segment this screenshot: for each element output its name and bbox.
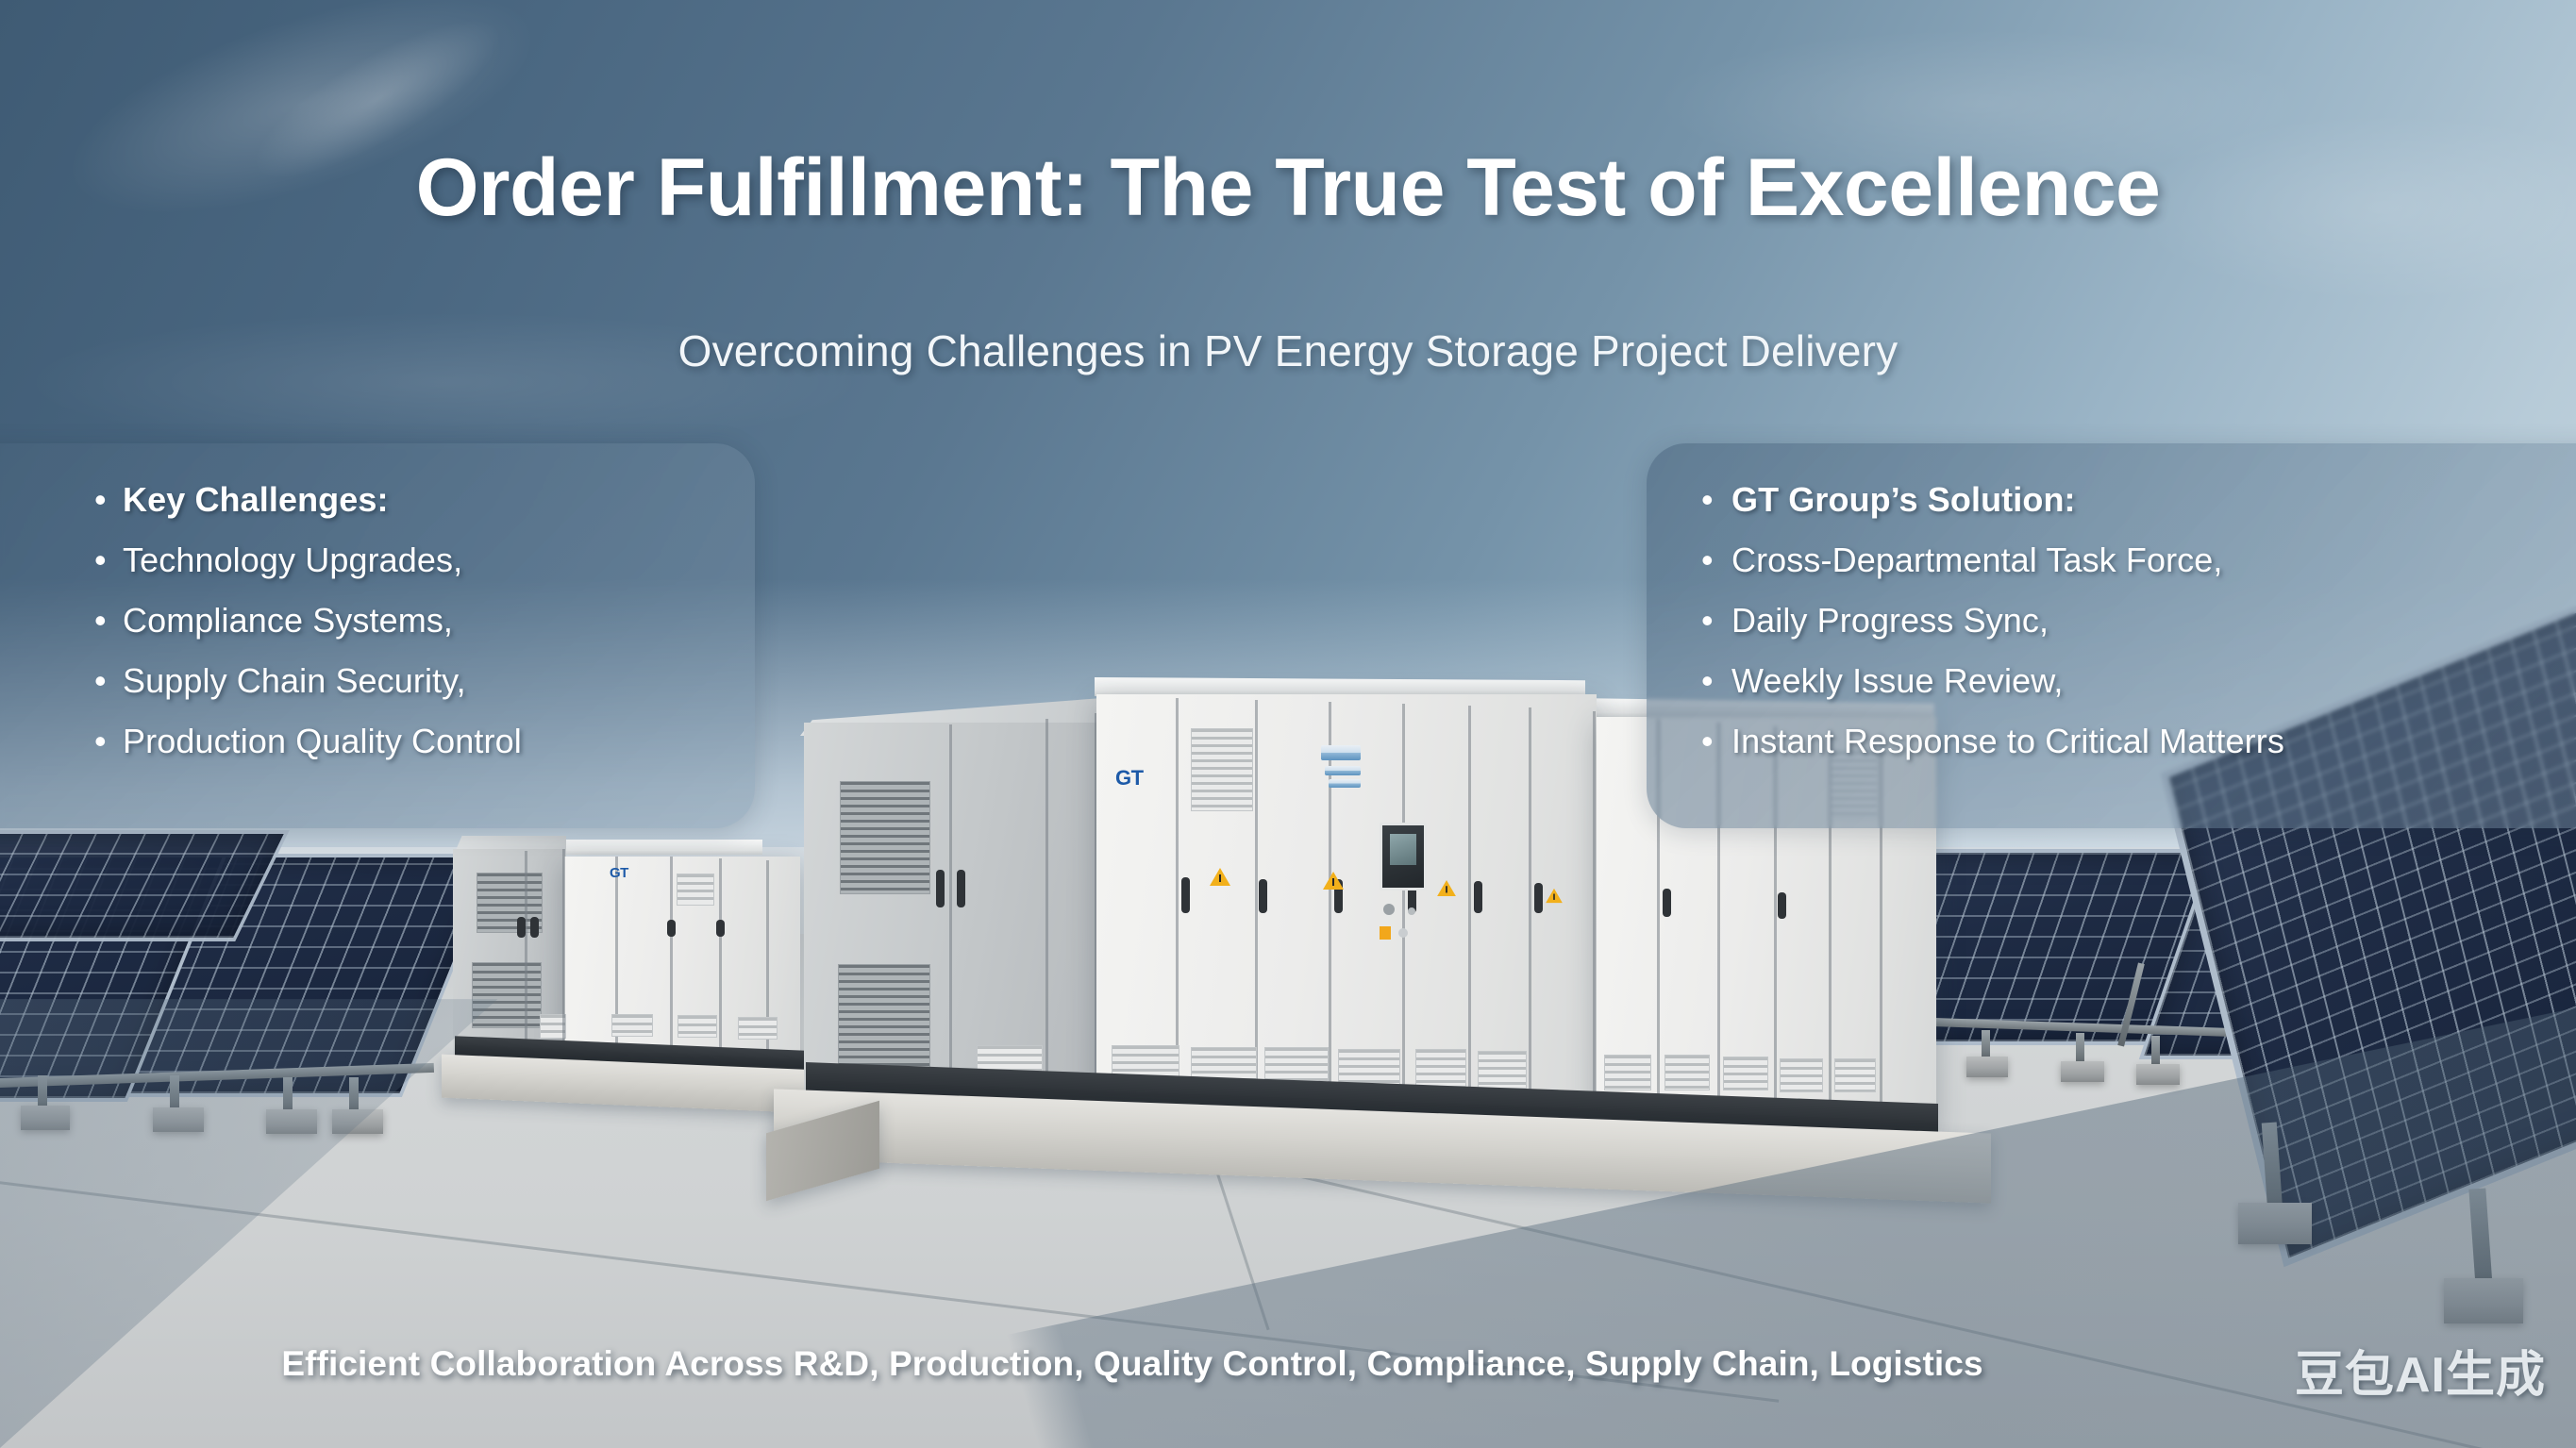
list-item: Compliance Systems,	[123, 604, 522, 638]
control-knob[interactable]	[1408, 907, 1415, 915]
bullet-markers: • • • • •	[94, 483, 107, 758]
warning-triangle-icon	[1210, 868, 1230, 886]
list-item: Weekly Issue Review,	[1731, 664, 2284, 698]
ventilation-louver	[1191, 728, 1253, 811]
control-knob[interactable]	[1383, 904, 1395, 915]
brand-badge	[1321, 745, 1361, 760]
key-challenges-panel: Key Challenges: Technology Upgrades, Com…	[0, 443, 755, 828]
warning-triangle-icon	[1323, 872, 1344, 890]
page-title: Order Fulfillment: The True Test of Exce…	[0, 141, 2576, 235]
key-challenges-list: Key Challenges: Technology Upgrades, Com…	[123, 483, 522, 785]
brand-badge	[1329, 779, 1361, 788]
brand-logo-text: GT	[610, 865, 628, 881]
brand-logo-text: GT	[1115, 766, 1144, 791]
list-item: Technology Upgrades,	[123, 543, 522, 577]
gt-group-solution-panel: GT Group’s Solution: Cross-Departmental …	[1647, 443, 2576, 828]
watermark-label: 豆包AI生成	[2295, 1335, 2546, 1406]
footer-caption: Efficient Collaboration Across R&D, Prod…	[0, 1344, 2576, 1384]
poster-canvas: GT GT	[0, 0, 2576, 1448]
list-item: Daily Progress Sync,	[1731, 604, 2284, 638]
brand-badge	[1325, 766, 1361, 775]
control-knob[interactable]	[1398, 928, 1408, 938]
list-item: Key Challenges:	[123, 483, 522, 517]
warning-triangle-icon	[1437, 880, 1456, 896]
hmi-display[interactable]	[1380, 823, 1427, 890]
list-item: GT Group’s Solution:	[1731, 483, 2284, 517]
warning-triangle-icon	[1546, 889, 1563, 903]
page-subtitle: Overcoming Challenges in PV Energy Stora…	[0, 325, 2576, 376]
list-item: Supply Chain Security,	[123, 664, 522, 698]
gt-group-solution-list: GT Group’s Solution: Cross-Departmental …	[1731, 483, 2284, 785]
list-item: Instant Response to Critical Matterrs	[1731, 724, 2284, 758]
bullet-markers: • • • • •	[1701, 483, 1714, 758]
list-item: Production Quality Control	[123, 724, 522, 758]
status-sticker	[1380, 926, 1391, 940]
list-item: Cross-Departmental Task Force,	[1731, 543, 2284, 577]
